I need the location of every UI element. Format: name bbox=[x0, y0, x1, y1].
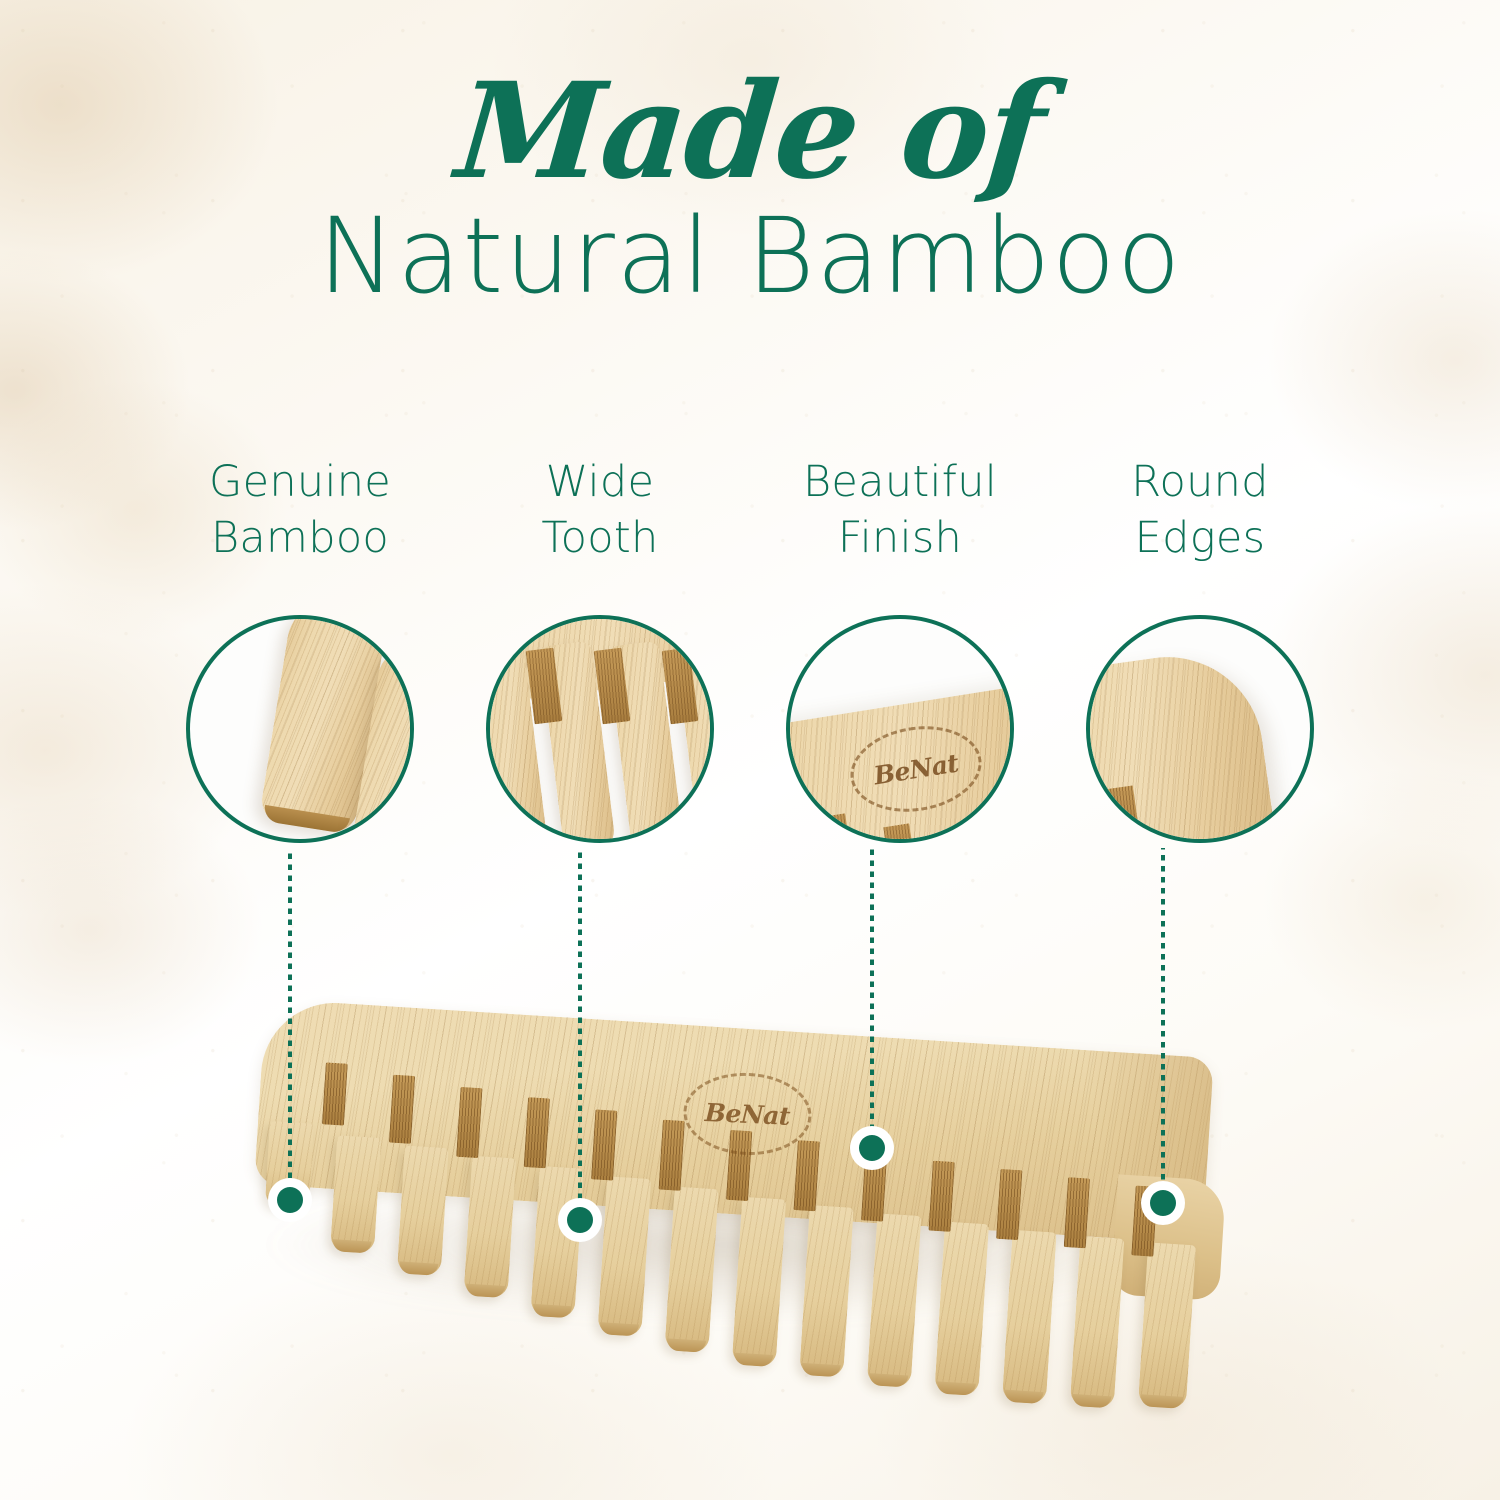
infographic-canvas: Made of Natural Bamboo Genuine Bamboo Wi… bbox=[0, 0, 1500, 1500]
comb-tooth bbox=[664, 1187, 718, 1353]
comb-slot bbox=[591, 1109, 617, 1180]
comb-slot bbox=[793, 1140, 819, 1211]
feature-label-line2: Tooth bbox=[450, 511, 750, 567]
page-title: Made of Natural Bamboo bbox=[0, 66, 1500, 311]
feature-round-edges: Round Edges bbox=[1050, 455, 1350, 855]
feature-label-line2: Edges bbox=[1050, 511, 1350, 567]
comb-slot bbox=[389, 1075, 415, 1144]
feature-label-beautiful-finish: Beautiful Finish bbox=[750, 455, 1050, 567]
comb-tooth bbox=[1070, 1236, 1125, 1408]
connector-line-beautiful-finish bbox=[870, 848, 874, 1148]
feature-genuine-bamboo: Genuine Bamboo bbox=[150, 455, 450, 855]
connector-line-round-edges bbox=[1161, 848, 1165, 1203]
feature-wide-tooth: Wide Tooth bbox=[450, 455, 750, 855]
comb-tooth bbox=[397, 1145, 449, 1276]
title-line-made-of: Made of bbox=[0, 66, 1500, 198]
brand-logo-text: BeNat bbox=[872, 748, 961, 790]
title-line-natural-bamboo: Natural Bamboo bbox=[0, 202, 1500, 311]
product-brand-logo-text: BeNat bbox=[704, 1098, 790, 1131]
feature-label-line1: Beautiful bbox=[750, 455, 1050, 511]
callout-circle-genuine-bamboo bbox=[186, 615, 414, 843]
feature-label-line1: Round bbox=[1050, 455, 1350, 511]
feature-label-round-edges: Round Edges bbox=[1050, 455, 1350, 567]
callout-photo-genuine-bamboo bbox=[190, 619, 410, 839]
comb-slot bbox=[659, 1120, 685, 1191]
comb-slot bbox=[1064, 1177, 1090, 1248]
feature-label-line2: Bamboo bbox=[150, 511, 450, 567]
connector-line-wide-tooth bbox=[578, 848, 582, 1220]
marker-dot-core bbox=[567, 1207, 593, 1233]
callout-photo-beautiful-finish: BeNat bbox=[790, 619, 1010, 839]
callout-circle-round-edges bbox=[1086, 615, 1314, 843]
comb-tooth bbox=[867, 1213, 922, 1387]
comb-tooth bbox=[530, 1166, 583, 1318]
comb-tooth bbox=[1138, 1242, 1196, 1409]
comb-tooth bbox=[799, 1205, 854, 1377]
callout-circle-wide-tooth bbox=[486, 615, 714, 843]
callout-photo-round-edges bbox=[1090, 619, 1310, 839]
marker-dot-core bbox=[277, 1187, 303, 1213]
product-photo: BeNat bbox=[230, 1000, 1250, 1420]
feature-beautiful-finish: Beautiful Finish BeNat bbox=[750, 455, 1050, 855]
comb-slot bbox=[456, 1087, 482, 1158]
comb-tooth bbox=[732, 1197, 786, 1367]
comb-slot bbox=[928, 1161, 954, 1232]
marker-dot-genuine-bamboo bbox=[268, 1178, 312, 1222]
feature-row: Genuine Bamboo Wide Tooth bbox=[150, 455, 1350, 855]
marker-dot-core bbox=[1150, 1190, 1176, 1216]
comb-tooth bbox=[597, 1176, 651, 1336]
feature-label-line1: Genuine bbox=[150, 455, 450, 511]
marker-dot-beautiful-finish bbox=[850, 1126, 894, 1170]
comb-slot bbox=[524, 1097, 550, 1168]
feature-label-line2: Finish bbox=[750, 511, 1050, 567]
feature-label-line1: Wide bbox=[450, 455, 750, 511]
marker-dot-core bbox=[859, 1135, 885, 1161]
comb-slot bbox=[322, 1062, 348, 1125]
comb-slot bbox=[996, 1169, 1022, 1240]
callout-circle-beautiful-finish: BeNat bbox=[786, 615, 1014, 843]
marker-dot-wide-tooth bbox=[558, 1198, 602, 1242]
feature-label-genuine-bamboo: Genuine Bamboo bbox=[150, 455, 450, 567]
bamboo-comb: BeNat bbox=[218, 969, 1241, 1431]
comb-tooth bbox=[934, 1222, 989, 1396]
callout-photo-wide-tooth bbox=[490, 619, 710, 839]
feature-label-wide-tooth: Wide Tooth bbox=[450, 455, 750, 567]
comb-tooth bbox=[330, 1135, 381, 1254]
connector-line-genuine-bamboo bbox=[288, 848, 292, 1200]
comb-tooth bbox=[463, 1156, 516, 1298]
marker-dot-round-edges bbox=[1141, 1181, 1185, 1225]
comb-tooth bbox=[1002, 1230, 1057, 1404]
